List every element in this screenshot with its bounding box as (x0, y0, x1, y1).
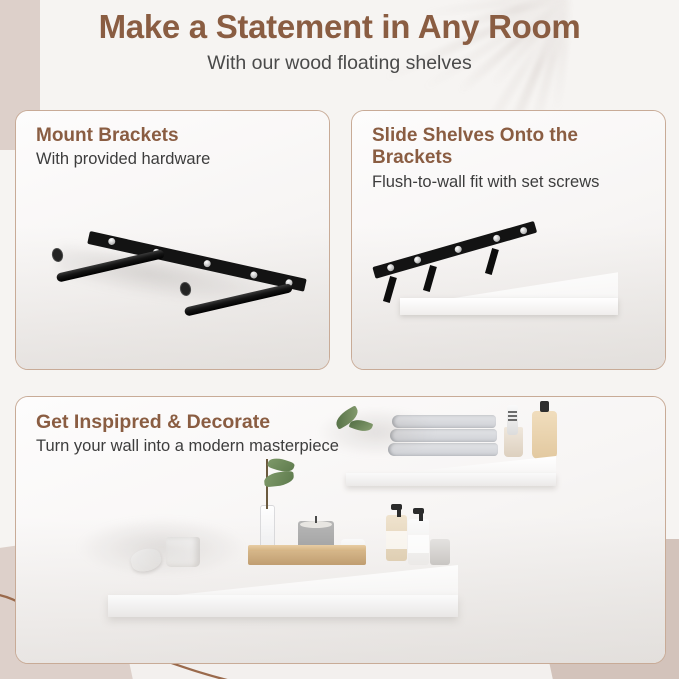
dark-jar (430, 539, 450, 565)
card-1-text: Mount Brackets With provided hardware (36, 125, 315, 170)
bracket-screw (519, 226, 528, 235)
bracket-screw (386, 263, 395, 272)
card-1-subtitle: With provided hardware (36, 150, 315, 170)
shelf-bracket-icon (54, 229, 306, 319)
wooden-tray (248, 549, 366, 565)
white-floating-shelf (400, 271, 618, 315)
card-3-title: Get Inspipred & Decorate (36, 411, 651, 434)
shelf-front-edge (108, 595, 458, 617)
card-2-text: Slide Shelves Onto the Brackets Flush-to… (372, 125, 651, 193)
pump-head (413, 508, 424, 514)
bracket-rod-cap (179, 280, 193, 296)
card-1-title: Mount Brackets (36, 125, 315, 147)
bracket-leg (383, 276, 397, 303)
card-3-subtitle: Turn your wall into a modern masterpiece (36, 437, 651, 457)
card-slide-shelves: Slide Shelves Onto the Brackets Flush-to… (351, 110, 666, 370)
card-mount-brackets: Mount Brackets With provided hardware (15, 110, 330, 370)
pump-dispenser-amber (386, 515, 407, 561)
bracket-rod (184, 283, 293, 317)
bracket-screw (454, 245, 463, 254)
infographic-page: Make a Statement in Any Room With our wo… (0, 0, 679, 679)
shelf-front-edge (400, 298, 618, 315)
pump-dispenser-white (408, 519, 429, 565)
plant-leaf (263, 471, 294, 488)
card-2-title: Slide Shelves Onto the Brackets (372, 125, 651, 170)
shelf-front-edge (346, 473, 556, 486)
bracket-screw (203, 259, 211, 267)
bracket-rod (56, 249, 165, 283)
page-subtitle: With our wood floating shelves (0, 52, 679, 75)
shelf-top-surface (400, 271, 618, 301)
card-2-subtitle: Flush-to-wall fit with set screws (372, 173, 651, 193)
wall-cast-shadow (76, 517, 246, 577)
page-title: Make a Statement in Any Room (0, 8, 679, 46)
bracket-screw (413, 256, 422, 265)
header: Make a Statement in Any Room With our wo… (0, 8, 679, 75)
bottle-label (386, 531, 407, 549)
bracket-screw (250, 270, 258, 278)
bottle-label (408, 535, 429, 553)
upper-floating-shelf (346, 456, 556, 486)
pump-head (391, 504, 402, 510)
card-get-inspired: Get Inspipred & Decorate Turn your wall … (15, 396, 666, 664)
bracket-screw (492, 234, 501, 243)
card-3-text: Get Inspipred & Decorate Turn your wall … (36, 411, 651, 457)
bracket-screw (108, 237, 116, 245)
